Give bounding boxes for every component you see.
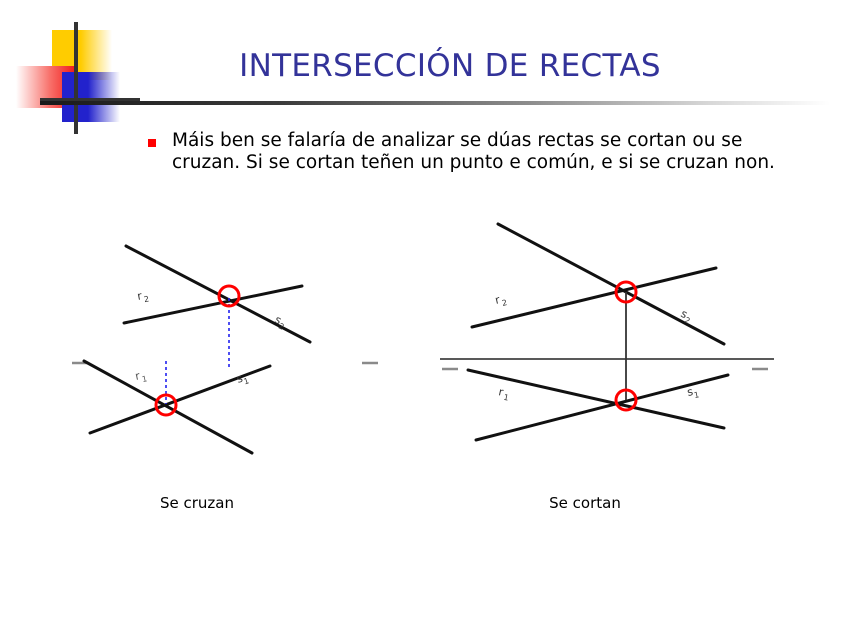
caption-se-cruzan: Se cruzan: [92, 494, 302, 512]
svg-text:1: 1: [693, 390, 700, 400]
svg-text:2: 2: [501, 298, 508, 308]
figure-se-cortan-svg: r 2 s 2 r 1 s 1: [432, 212, 782, 478]
slide-canvas: INTERSECCIÓN DE RECTAS Máis ben se falar…: [0, 0, 848, 636]
figure-se-cortan: r 2 s 2 r 1 s 1: [432, 212, 782, 478]
line-s1-lower: [90, 366, 270, 433]
label-r2: r 2: [494, 292, 508, 310]
svg-text:1: 1: [243, 376, 251, 386]
svg-text:2: 2: [143, 294, 150, 304]
svg-text:1: 1: [503, 393, 510, 403]
bullet-list-item: Máis ben se falaría de analizar se dúas …: [148, 130, 798, 174]
line-s2-upper: [498, 224, 724, 344]
logo-vertical-bar: [74, 22, 78, 134]
line-r1-lower: [84, 361, 252, 453]
label-r1: r 1: [497, 385, 511, 402]
logo-blue-square: [62, 72, 120, 122]
page-title: INTERSECCIÓN DE RECTAS: [150, 48, 750, 84]
square-bullet-icon: [148, 139, 156, 147]
figure-se-cruzan: r 2 s 2 r 1 s 1: [62, 218, 392, 478]
bullet-text: Máis ben se falaría de analizar se dúas …: [172, 130, 798, 174]
label-r2: r 2: [136, 288, 150, 305]
figure-se-cruzan-svg: r 2 s 2 r 1 s 1: [62, 218, 392, 478]
caption-se-cortan: Se cortan: [480, 494, 690, 512]
decorative-logo: [14, 22, 126, 134]
title-underline-rule: [40, 101, 830, 105]
label-r1: r 1: [134, 368, 148, 385]
label-s2: s 2: [678, 307, 695, 326]
svg-text:1: 1: [141, 374, 148, 384]
label-s1: s 1: [686, 384, 700, 401]
